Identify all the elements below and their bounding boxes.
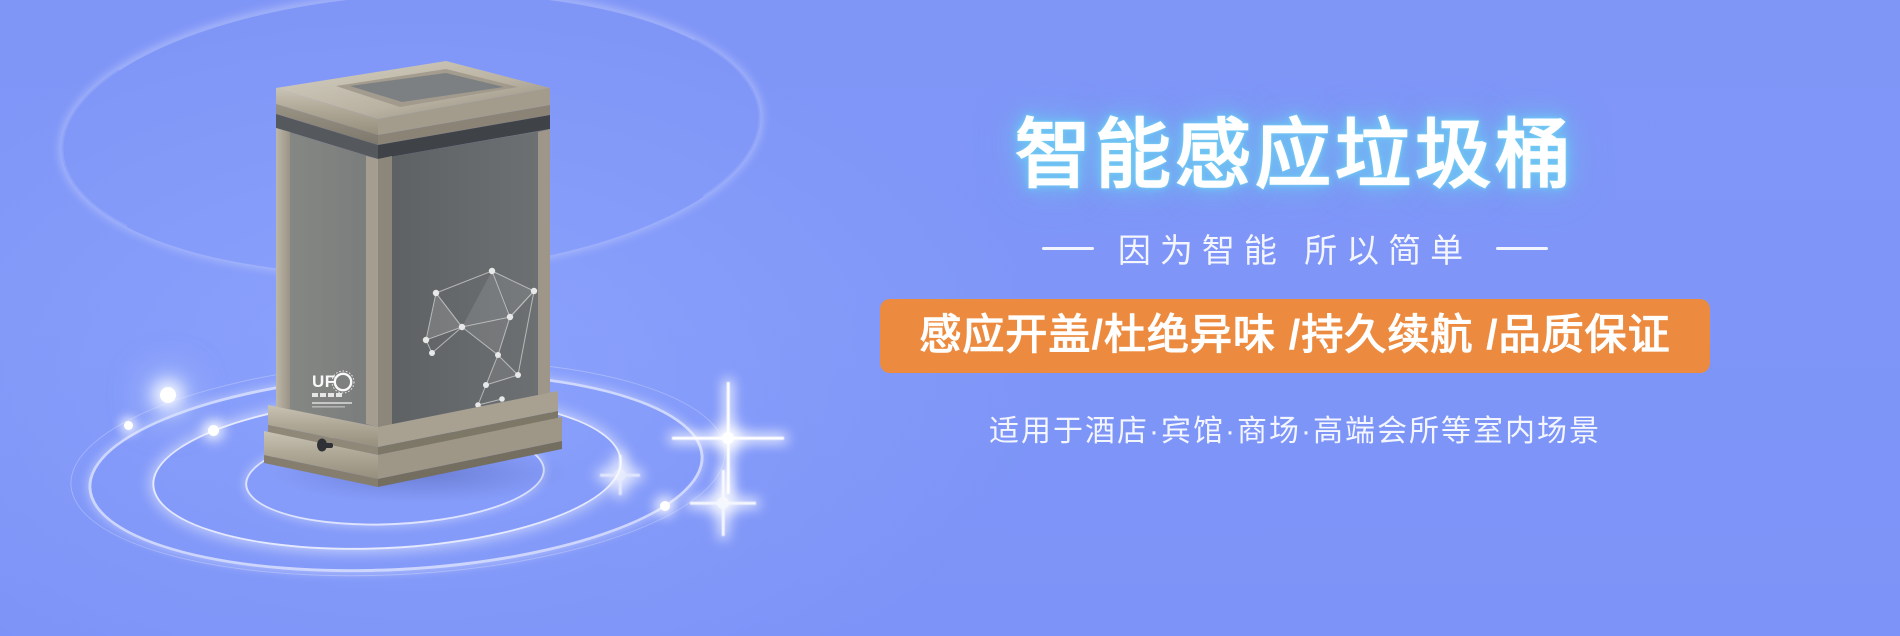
subtitle-row: 因为智能 所以简单 bbox=[880, 224, 1710, 272]
dash-right-icon bbox=[1496, 247, 1548, 250]
banner-copy-column: 智能感应垃圾桶 因为智能 所以简单 感应开盖/杜绝异味 /持久续航 /品质保证 … bbox=[880, 118, 1710, 450]
brand-logo: UF bbox=[312, 371, 354, 408]
subtitle-text: 因为智能 所以简单 bbox=[1118, 224, 1472, 272]
page-title: 智能感应垃圾桶 bbox=[880, 118, 1710, 194]
feature-highlight-bar: 感应开盖/杜绝异味 /持久续航 /品质保证 bbox=[880, 299, 1710, 373]
product-image-smart-trash-bin: UF bbox=[250, 55, 580, 500]
promo-banner: UF 智能感应垃圾桶 bbox=[0, 0, 1900, 636]
feature-highlight-text: 感应开盖/杜绝异味 /持久续航 /品质保证 bbox=[919, 311, 1670, 358]
usage-scenario-text: 适用于酒店·宾馆·商场·高端会所等室内场景 bbox=[880, 406, 1710, 450]
dash-left-icon bbox=[1042, 247, 1094, 250]
